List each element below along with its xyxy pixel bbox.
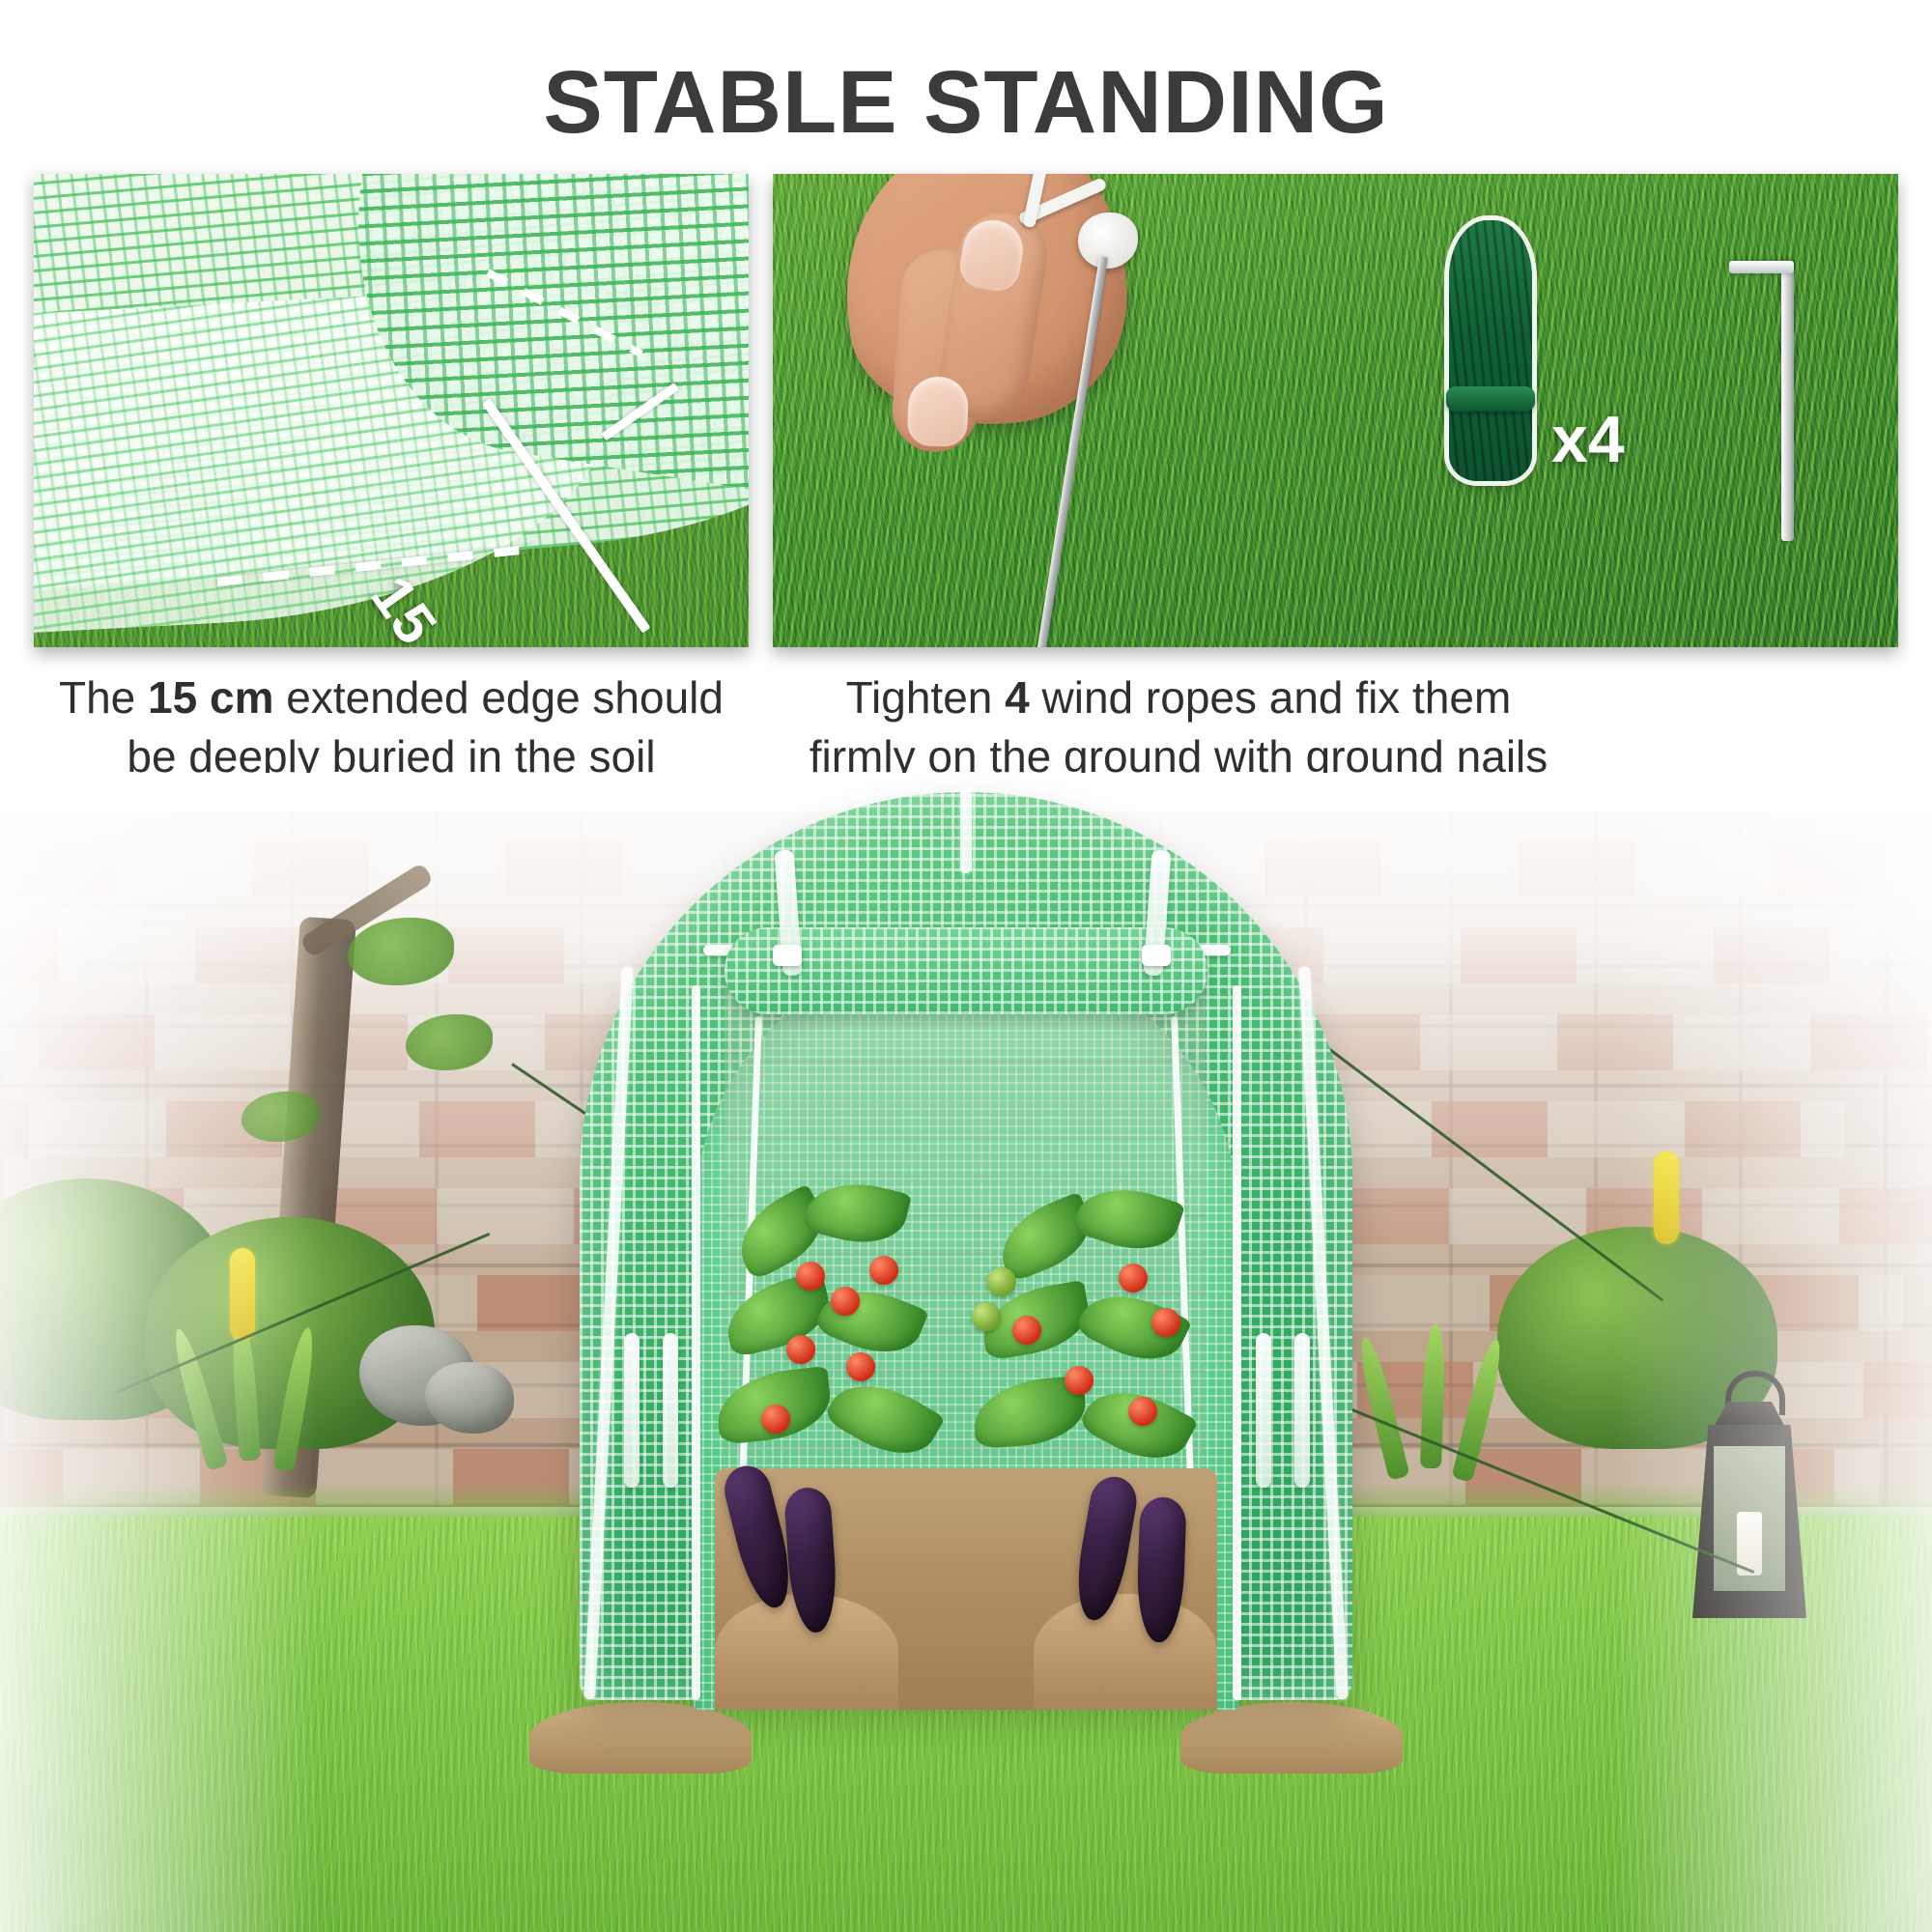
wind-rope-photo: x4 (773, 174, 1898, 647)
rope-bundle-tie (1446, 386, 1535, 412)
tomato-fruit (1012, 1316, 1041, 1345)
page-title: STABLE STANDING (0, 58, 1932, 147)
greenhouse-hero-photo (0, 773, 1932, 1932)
side-window-strap (1294, 1333, 1310, 1488)
thumbnail (907, 376, 969, 447)
hero-right-vignette (1613, 773, 1932, 1932)
ground-nail-hook (1729, 261, 1794, 273)
tomato-fruit (761, 1405, 790, 1434)
door-zipper-right (1233, 985, 1241, 1700)
caption-right: Tighten 4 wind ropes and fix them firmly… (792, 668, 1565, 785)
tomato-fruit (786, 1335, 815, 1364)
caption-left-bold: 15 cm (148, 672, 273, 723)
caption-right-bold: 4 (1005, 672, 1030, 723)
tomato-fruit (831, 1287, 860, 1316)
side-window-strap (624, 1333, 639, 1488)
caption-left: The 15 cm extended edge should be deeply… (34, 668, 749, 785)
soil-mound (1034, 1594, 1217, 1710)
anchor-soil-left (529, 1702, 752, 1774)
tomato-fruit (846, 1352, 875, 1381)
extended-edge-photo: 15 cm (34, 174, 749, 647)
tomato-fruit (1151, 1308, 1180, 1337)
tomato-fruit (1128, 1397, 1157, 1426)
tomato-fruit (869, 1256, 898, 1285)
leaf (813, 1274, 929, 1367)
anchor-soil-right (1180, 1702, 1403, 1774)
rope-bundle (1449, 220, 1532, 481)
tomato-fruit-green (987, 1267, 1016, 1296)
door-zipper-left (692, 985, 700, 1700)
side-window-strap (1256, 1333, 1271, 1488)
leaf (822, 1365, 945, 1471)
tomato-fruit (796, 1262, 825, 1291)
tomato-fruit-green (972, 1302, 1001, 1331)
greenhouse (580, 792, 1352, 1768)
tomato-fruit (1119, 1264, 1148, 1293)
caption-left-part1: The (59, 672, 148, 723)
tomato-plant (724, 1198, 966, 1565)
door-buckle (773, 945, 802, 966)
caption-right-part1: Tighten (846, 672, 1006, 723)
rope-bundle-body (1449, 220, 1532, 481)
tomato-plant (978, 1207, 1219, 1575)
hero-left-vignette (0, 773, 319, 1932)
side-window-strap (663, 1333, 678, 1488)
tomato-fruit (1065, 1366, 1094, 1395)
frame-ridge (960, 786, 972, 873)
infographic-root: STABLE STANDING 15 cm (0, 0, 1932, 1932)
door-buckle (1142, 945, 1171, 966)
ground-nail-shaft (1781, 261, 1794, 541)
quantity-badge-x4: x4 (1551, 402, 1625, 477)
